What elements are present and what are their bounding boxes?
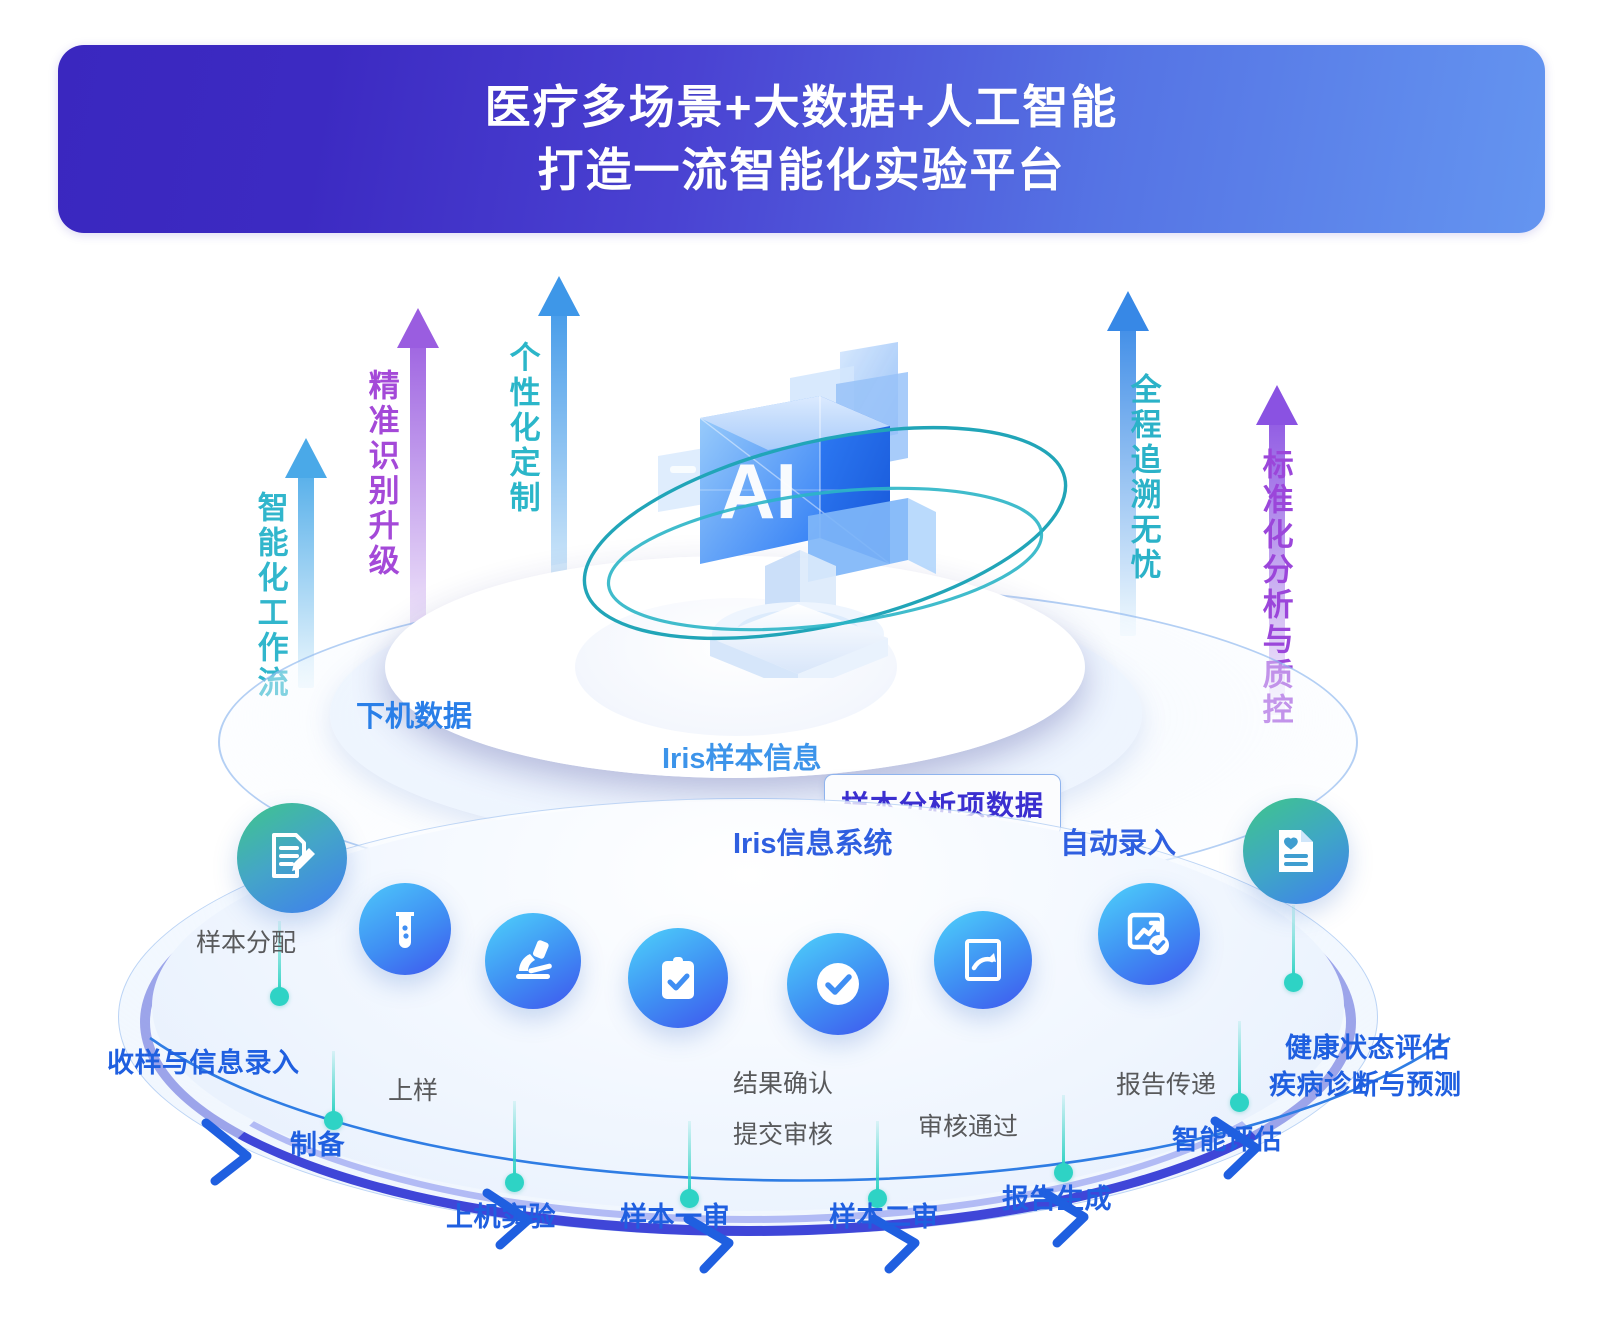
label-review1: 样本一审 bbox=[620, 1195, 730, 1234]
transition-label-sample-allocation: 样本分配 bbox=[196, 923, 296, 959]
page-header-banner: 医疗多场景+大数据+人工智能 打造一流智能化实验平台 bbox=[58, 45, 1545, 233]
banner-title-line-1: 医疗多场景+大数据+人工智能 bbox=[485, 76, 1119, 139]
test-tube-icon bbox=[382, 906, 428, 952]
microscope-icon bbox=[508, 936, 558, 986]
label-review2: 样本二审 bbox=[829, 1195, 939, 1234]
stem-review1 bbox=[688, 1121, 691, 1193]
stem-assess bbox=[1238, 1021, 1241, 1097]
stem-prepare bbox=[332, 1051, 335, 1115]
stage-icon-prepare[interactable] bbox=[359, 883, 451, 975]
dot-instrument bbox=[505, 1173, 524, 1192]
label-iris-system: Iris信息系统 bbox=[733, 820, 893, 862]
document-edit-icon bbox=[264, 830, 320, 886]
label-prepare: 制备 bbox=[290, 1123, 345, 1162]
transition-label-loading: 上样 bbox=[388, 1071, 438, 1107]
value-arrow-3-head bbox=[538, 276, 580, 316]
label-report: 报告生成 bbox=[1002, 1177, 1112, 1216]
report-export-icon bbox=[958, 935, 1008, 985]
value-arrow-label-2: 精准识别升级 bbox=[365, 369, 397, 579]
transition-label-submit-review: 提交审核 bbox=[733, 1115, 833, 1151]
value-arrow-2 bbox=[410, 308, 426, 660]
label-instrument: 上机实验 bbox=[446, 1195, 556, 1234]
orbit-ring-1 bbox=[565, 388, 1086, 678]
label-health-line1: 健康状态评估 bbox=[1285, 1031, 1450, 1066]
health-report-icon bbox=[1270, 825, 1322, 877]
value-arrow-label-3: 个性化定制 bbox=[506, 341, 538, 516]
stem-report bbox=[1062, 1095, 1065, 1167]
value-arrow-1-shaft bbox=[298, 453, 314, 688]
orbit-rings bbox=[560, 363, 1080, 703]
transition-label-result-confirm: 结果确认 bbox=[733, 1064, 833, 1100]
chevron-1 bbox=[206, 1123, 247, 1181]
label-assess: 智能评估 bbox=[1172, 1118, 1282, 1157]
label-offline-data: 下机数据 bbox=[356, 693, 472, 735]
label-iris-sample-info: Iris样本信息 bbox=[662, 735, 822, 777]
label-auto-entry: 自动录入 bbox=[1060, 820, 1176, 862]
stage-icon-assess[interactable] bbox=[1098, 883, 1200, 985]
value-arrow-1 bbox=[298, 438, 314, 688]
transition-label-report-delivery: 报告传递 bbox=[1116, 1065, 1216, 1101]
workflow-track-curve bbox=[150, 1038, 1450, 1181]
stage-icon-health[interactable] bbox=[1243, 798, 1349, 904]
value-arrow-1-head bbox=[285, 438, 327, 478]
value-arrow-label-4: 全程追溯无忧 bbox=[1127, 373, 1159, 583]
dot-health bbox=[1284, 973, 1303, 992]
stem-health bbox=[1292, 905, 1295, 979]
value-arrow-4-head bbox=[1107, 291, 1149, 331]
banner-title-line-2: 打造一流智能化实验平台 bbox=[538, 139, 1066, 202]
infographic-stage: 智能化工作流 精准识别升级 个性化定制 全程追溯无忧 标准化分析与质控 bbox=[0, 233, 1600, 1339]
value-arrow-5-head bbox=[1256, 385, 1298, 425]
dot-assess bbox=[1230, 1093, 1249, 1112]
value-arrow-2-head bbox=[397, 308, 439, 348]
stem-review2 bbox=[876, 1121, 879, 1193]
stem-instrument bbox=[513, 1101, 516, 1177]
transition-label-review-pass: 审核通过 bbox=[918, 1107, 1018, 1143]
dot-collect bbox=[270, 987, 289, 1006]
value-arrow-2-shaft bbox=[410, 323, 426, 660]
stage-icon-collect[interactable] bbox=[237, 803, 347, 913]
chart-check-icon bbox=[1123, 908, 1175, 960]
label-health-line2: 疾病诊断与预测 bbox=[1269, 1068, 1462, 1103]
label-collect: 收样与信息录入 bbox=[107, 1041, 300, 1080]
